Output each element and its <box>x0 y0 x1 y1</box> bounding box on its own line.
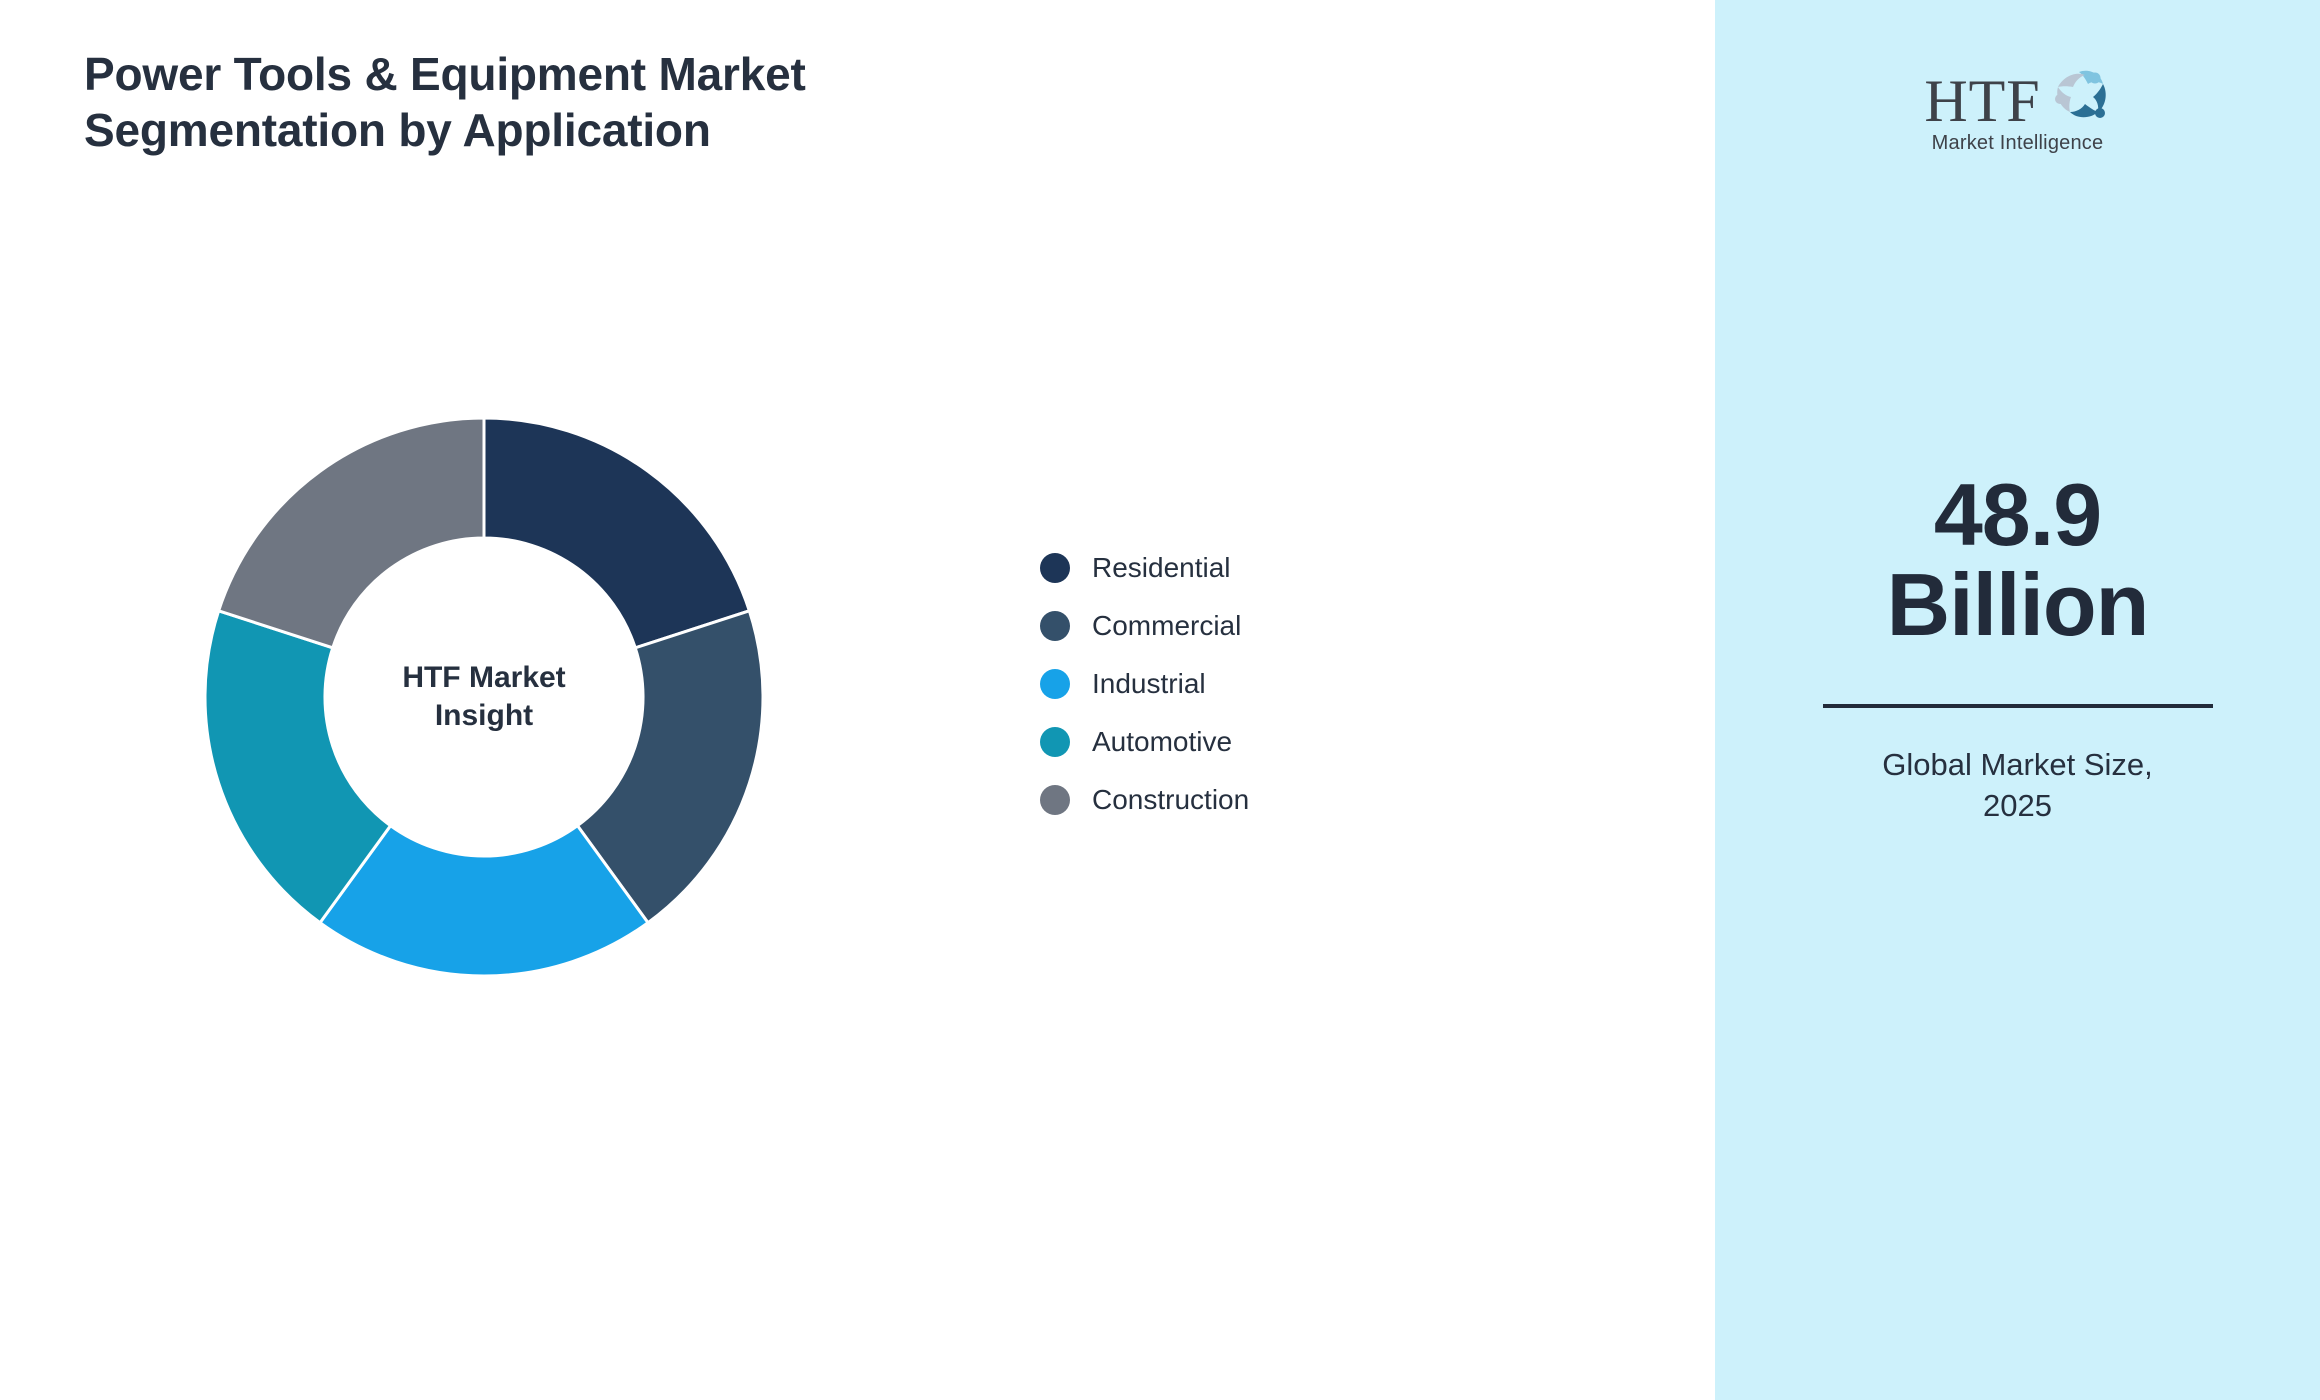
stat-block: 48.9 Billion Global Market Size, 2025 <box>1715 470 2320 827</box>
donut-chart-svg <box>204 417 764 977</box>
infographic-root: Power Tools & Equipment Market Segmentat… <box>0 0 2320 1400</box>
donut-slice-residential[interactable] <box>484 418 749 648</box>
legend-swatch-icon <box>1040 611 1070 641</box>
legend-item-label: Construction <box>1092 784 1249 816</box>
legend-item[interactable]: Construction <box>1040 783 1249 817</box>
legend-item[interactable]: Industrial <box>1040 667 1249 701</box>
legend-swatch-icon <box>1040 727 1070 757</box>
market-size-caption: Global Market Size, 2025 <box>1743 744 2292 828</box>
page-title: Power Tools & Equipment Market Segmentat… <box>84 46 1084 158</box>
legend-item-label: Commercial <box>1092 610 1241 642</box>
legend-item[interactable]: Commercial <box>1040 609 1249 643</box>
donut-slice-construction[interactable] <box>219 418 484 648</box>
donut-chart: HTF Market Insight <box>204 417 764 977</box>
legend-item-label: Automotive <box>1092 726 1232 758</box>
brand-logo: HTF Market Intelligence <box>1893 68 2143 155</box>
htf-people-circle-icon <box>2045 66 2111 128</box>
stat-divider <box>1823 704 2213 708</box>
chart-panel: Power Tools & Equipment Market Segmentat… <box>0 0 1715 1400</box>
legend-item-label: Residential <box>1092 552 1231 584</box>
chart-legend: ResidentialCommercialIndustrialAutomotiv… <box>1040 551 1249 817</box>
legend-item[interactable]: Residential <box>1040 551 1249 585</box>
stat-panel: HTF Market Intelligence 48.9 Billion Glo… <box>1715 0 2320 1400</box>
legend-item-label: Industrial <box>1092 668 1206 700</box>
legend-swatch-icon <box>1040 553 1070 583</box>
legend-swatch-icon <box>1040 785 1070 815</box>
legend-item[interactable]: Automotive <box>1040 725 1249 759</box>
logo-mark: HTF <box>1893 68 2143 130</box>
legend-swatch-icon <box>1040 669 1070 699</box>
donut-slice-group <box>205 418 763 976</box>
market-size-value: 48.9 Billion <box>1743 470 2292 650</box>
logo-subtitle: Market Intelligence <box>1893 132 2143 155</box>
logo-wordmark: HTF <box>1924 72 2040 130</box>
